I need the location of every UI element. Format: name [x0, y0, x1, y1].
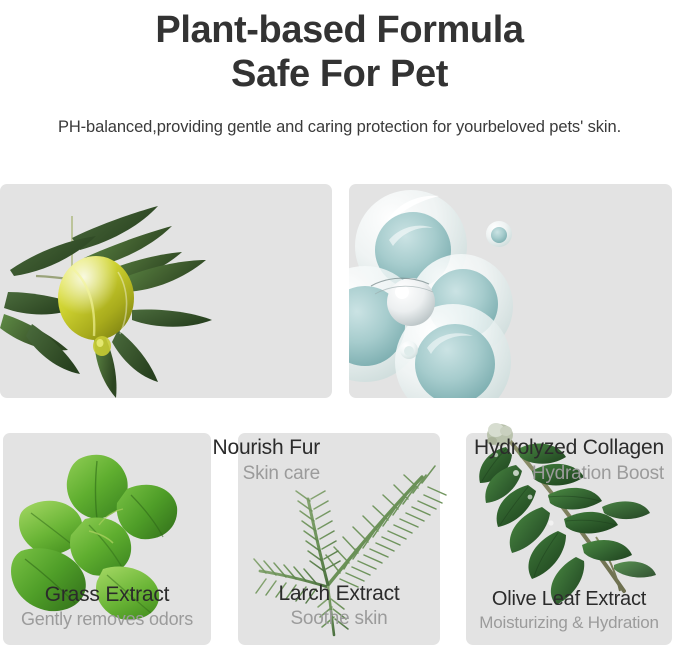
card-caption-grass-extract: Grass Extract Gently removes odors: [3, 582, 211, 631]
card-subtitle-nourish-fur: Skin care: [213, 463, 321, 485]
page-title-line-1: Plant-based Formula: [155, 9, 523, 51]
card-title-larch-extract: Larch Extract: [238, 581, 440, 606]
olive-branch-icon: [0, 184, 332, 398]
card-art-nourish-fur: [0, 184, 332, 398]
feature-card-hydrolyzed-collagen: Hydrolyzed Collagen Hydration Boost: [349, 184, 672, 398]
card-subtitle-larch-extract: Soothe skin: [238, 608, 440, 631]
card-caption-larch-extract: Larch Extract Soothe skin: [238, 581, 440, 631]
card-title-olive-leaf-extract: Olive Leaf Extract: [466, 587, 672, 611]
feature-card-nourish-fur: Nourish Fur Skin care: [0, 184, 332, 398]
card-title-grass-extract: Grass Extract: [3, 582, 211, 607]
infographic-page: Plant-based Formula Safe For Pet PH-bala…: [0, 0, 679, 648]
card-subtitle-hydrolyzed-collagen: Hydration Boost: [474, 463, 664, 485]
card-caption-olive-leaf-extract: Olive Leaf Extract Moisturizing & Hydrat…: [466, 587, 672, 633]
card-caption-hydrolyzed-collagen: Hydrolyzed Collagen Hydration Boost: [474, 436, 664, 485]
card-caption-nourish-fur: Nourish Fur Skin care: [213, 436, 321, 485]
card-subtitle-grass-extract: Gently removes odors: [3, 609, 211, 631]
collagen-bubbles-icon: [349, 184, 672, 398]
card-title-hydrolyzed-collagen: Hydrolyzed Collagen: [474, 436, 664, 461]
page-title-line-2: Safe For Pet: [0, 52, 679, 96]
card-title-nourish-fur: Nourish Fur: [213, 436, 321, 461]
card-art-hydrolyzed-collagen: [349, 184, 672, 398]
page-subtitle: PH-balanced,providing gentle and caring …: [0, 118, 679, 137]
card-subtitle-olive-leaf-extract: Moisturizing & Hydration: [466, 613, 672, 633]
page-title: Plant-based Formula Safe For Pet: [0, 0, 679, 96]
feature-card-grass-extract: Grass Extract Gently removes odors: [3, 433, 211, 645]
